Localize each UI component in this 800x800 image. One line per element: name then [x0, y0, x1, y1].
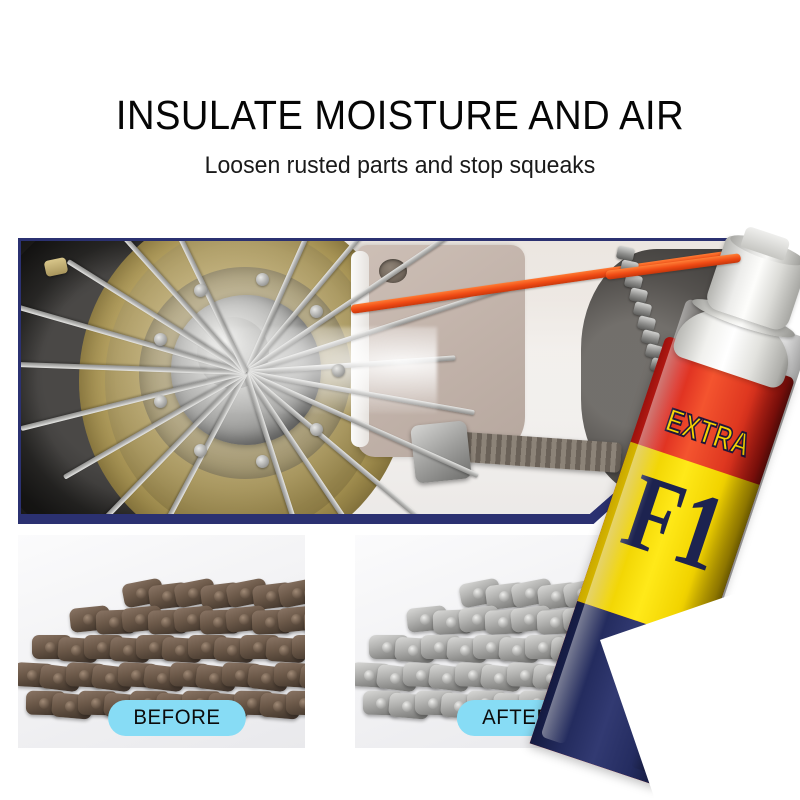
chain-pin	[584, 698, 595, 709]
chain-pin	[71, 645, 82, 656]
badge-before: BEFORE	[108, 700, 246, 736]
hub-bolt	[332, 364, 345, 377]
chain-pin	[364, 670, 375, 681]
chain-pin	[279, 645, 290, 656]
chain-pin	[524, 614, 535, 625]
chain-pin	[546, 673, 557, 684]
chain-pin	[520, 670, 531, 681]
comparison-card-before: BEFORE	[18, 535, 305, 748]
chain-pin	[610, 701, 621, 712]
chain-link	[304, 609, 305, 634]
chain-pin	[402, 701, 413, 712]
hero-image-frame	[18, 238, 733, 524]
chain-pin	[299, 698, 305, 709]
chain-pin	[162, 591, 173, 602]
chain-pin	[83, 614, 94, 625]
chain-link	[292, 635, 305, 659]
badge-after: AFTER	[457, 700, 577, 736]
chain-pin	[65, 701, 76, 712]
chain-pin	[602, 617, 613, 628]
chain-pin	[494, 673, 505, 684]
chain-pin	[629, 588, 640, 599]
chain-pin	[79, 670, 90, 681]
chain-pin	[136, 588, 147, 599]
can-cap-top	[728, 229, 800, 271]
chain-pin	[287, 670, 298, 681]
chain-link	[683, 469, 703, 487]
chain-pin	[442, 673, 453, 684]
chain-pin	[486, 642, 497, 653]
chain-pin	[577, 588, 588, 599]
chain-pin	[603, 591, 614, 602]
can-nozzle	[740, 226, 791, 261]
chain-pin	[416, 670, 427, 681]
chain-pin	[135, 614, 146, 625]
page-subtitle: Loosen rusted parts and stop squeaks	[16, 152, 784, 180]
chain-pin	[550, 617, 561, 628]
chain-pin	[261, 673, 272, 684]
chain-pin	[45, 642, 56, 653]
chain-pin	[525, 588, 536, 599]
chain-pin	[183, 670, 194, 681]
chain-pin	[27, 670, 38, 681]
chain-pin	[109, 617, 120, 628]
chain-pin	[131, 670, 142, 681]
chain-pin	[266, 591, 277, 602]
chain-pin	[460, 645, 471, 656]
chain-pin	[572, 670, 583, 681]
chain-pin	[390, 673, 401, 684]
chain-pin	[408, 645, 419, 656]
chain-pin	[498, 617, 509, 628]
chain-pin	[123, 645, 134, 656]
chain-pin	[499, 591, 510, 602]
chain-pin	[468, 670, 479, 681]
chain-pin	[227, 645, 238, 656]
chain-pin	[157, 673, 168, 684]
hub-bolt	[256, 455, 269, 468]
chain-pin	[175, 645, 186, 656]
chain-pin	[564, 645, 575, 656]
chain-link	[678, 455, 698, 473]
chain-pin	[376, 698, 387, 709]
chain-pin	[161, 617, 172, 628]
chain-pin	[473, 588, 484, 599]
chain-pin	[512, 645, 523, 656]
chain-pin	[538, 642, 549, 653]
chain-pin	[265, 617, 276, 628]
chain-pin	[105, 673, 116, 684]
chain-pin	[292, 588, 303, 599]
comparison-card-after: AFTER	[355, 535, 642, 748]
chain-pin	[239, 614, 250, 625]
chain-pin	[97, 642, 108, 653]
chain-pin	[91, 698, 102, 709]
chain-pin	[240, 588, 251, 599]
chain-pin	[209, 673, 220, 684]
chain-link	[670, 427, 690, 444]
chain-pin	[53, 673, 64, 684]
chain-pin	[235, 670, 246, 681]
chain-pin	[434, 642, 445, 653]
chain-link	[674, 441, 694, 459]
chain-pin	[446, 617, 457, 628]
chain-pin	[187, 614, 198, 625]
hub-bolt	[194, 444, 207, 457]
page-title: INSULATE MOISTURE AND AIR	[28, 92, 772, 139]
chain-pin	[213, 617, 224, 628]
chain-pin	[590, 642, 601, 653]
motorcycle-wheel-photo	[21, 241, 730, 514]
chain-pin	[576, 614, 587, 625]
chain-pin	[382, 642, 393, 653]
chain-pin	[201, 642, 212, 653]
chain-pin	[253, 642, 264, 653]
chain-pin	[39, 698, 50, 709]
hub-bolt	[154, 395, 167, 408]
hero-image	[21, 241, 730, 514]
chain-pin	[472, 614, 483, 625]
chain-pin	[551, 591, 562, 602]
promo-page: INSULATE MOISTURE AND AIR Loosen rusted …	[0, 0, 800, 800]
chain-pin	[428, 698, 439, 709]
chain-pin	[247, 698, 258, 709]
chain-pin	[273, 701, 284, 712]
chain-pin	[291, 614, 302, 625]
chain-pin	[420, 614, 431, 625]
chain-pin	[628, 614, 639, 625]
chain-pin	[598, 673, 609, 684]
chain-pin	[188, 588, 199, 599]
hub-bolt	[154, 333, 167, 346]
chain-pin	[214, 591, 225, 602]
chain-pin	[149, 642, 160, 653]
